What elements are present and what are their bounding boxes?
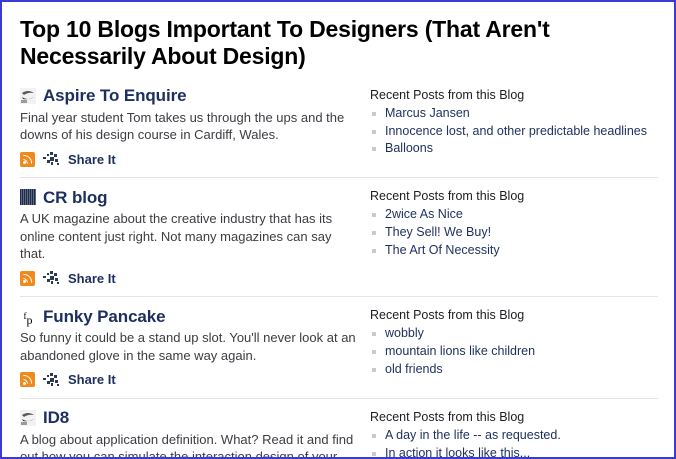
aspire-to-enquire-favicon (20, 88, 36, 104)
recent-posts-heading: Recent Posts from this Blog (370, 410, 658, 425)
blog-description: A blog about application definition. Wha… (20, 431, 360, 459)
post-link[interactable]: A day in the life -- as requested. (370, 427, 658, 445)
blog-summary-column: fp Funky Pancake So funny it could be a … (20, 306, 370, 389)
recent-posts-heading: Recent Posts from this Blog (370, 189, 658, 204)
post-link[interactable]: 2wice As Nice (370, 206, 658, 224)
blog-header: ID8 (20, 408, 370, 428)
blog-description: Final year student Tom takes us through … (20, 109, 360, 144)
recent-posts-heading: Recent Posts from this Blog (370, 308, 658, 323)
share-label[interactable]: Share It (68, 272, 116, 285)
funky-pancake-favicon: fp (20, 308, 36, 324)
blog-description: A UK magazine about the creative industr… (20, 210, 360, 262)
page-title: Top 10 Blogs Important To Designers (Tha… (20, 16, 658, 70)
blog-header: CR blog (20, 187, 370, 207)
rss-icon[interactable] (20, 372, 35, 387)
blog-summary-column: ID8 A blog about application definition.… (20, 408, 370, 459)
blog-entry: fp Funky Pancake So funny it could be a … (20, 306, 658, 399)
recent-posts-heading: Recent Posts from this Blog (370, 88, 658, 103)
post-link[interactable]: Innocence lost, and other predictable he… (370, 123, 658, 141)
blog-summary-column: Aspire To Enquire Final year student Tom… (20, 86, 370, 169)
blog-summary-column: CR blog A UK magazine about the creative… (20, 187, 370, 287)
blog-entry: ID8 A blog about application definition.… (20, 408, 658, 459)
rss-icon[interactable] (20, 271, 35, 286)
id8-favicon (20, 410, 36, 426)
share-label[interactable]: Share It (68, 373, 116, 386)
blog-title-link[interactable]: Aspire To Enquire (43, 87, 186, 104)
post-link[interactable]: The Art Of Necessity (370, 242, 658, 260)
blog-entry: Aspire To Enquire Final year student Tom… (20, 86, 658, 179)
blog-entry: CR blog A UK magazine about the creative… (20, 187, 658, 297)
blog-list-page: Top 10 Blogs Important To Designers (Tha… (0, 0, 676, 459)
share-row: Share It (20, 371, 370, 389)
post-link[interactable]: Marcus Jansen (370, 105, 658, 123)
post-link[interactable]: mountain lions like children (370, 343, 658, 361)
share-icon[interactable] (43, 152, 60, 166)
recent-posts-column: Recent Posts from this Blog Marcus Janse… (370, 86, 658, 158)
post-link[interactable]: old friends (370, 361, 658, 379)
share-label[interactable]: Share It (68, 153, 116, 166)
blog-header: Aspire To Enquire (20, 86, 370, 106)
post-link[interactable]: wobbly (370, 325, 658, 343)
page-content: Top 10 Blogs Important To Designers (Tha… (2, 2, 674, 459)
blog-title-link[interactable]: Funky Pancake (43, 308, 165, 325)
blog-title-link[interactable]: CR blog (43, 189, 107, 206)
rss-icon[interactable] (20, 152, 35, 167)
post-link[interactable]: In action it looks like this... (370, 445, 658, 459)
share-row: Share It (20, 150, 370, 168)
share-icon[interactable] (43, 373, 60, 387)
recent-posts-list: wobbly mountain lions like children old … (370, 325, 658, 378)
blog-title-link[interactable]: ID8 (43, 409, 69, 426)
blog-header: fp Funky Pancake (20, 306, 370, 326)
recent-posts-list: Marcus Jansen Innocence lost, and other … (370, 105, 658, 158)
share-icon[interactable] (43, 271, 60, 285)
recent-posts-list: 2wice As Nice They Sell! We Buy! The Art… (370, 206, 658, 259)
cr-blog-favicon (20, 189, 36, 205)
post-link[interactable]: They Sell! We Buy! (370, 224, 658, 242)
recent-posts-column: Recent Posts from this Blog wobbly mount… (370, 306, 658, 378)
recent-posts-column: Recent Posts from this Blog 2wice As Nic… (370, 187, 658, 259)
recent-posts-list: A day in the life -- as requested. In ac… (370, 427, 658, 459)
share-row: Share It (20, 269, 370, 287)
post-link[interactable]: Balloons (370, 140, 658, 158)
blog-description: So funny it could be a stand up slot. Yo… (20, 329, 360, 364)
recent-posts-column: Recent Posts from this Blog A day in the… (370, 408, 658, 459)
